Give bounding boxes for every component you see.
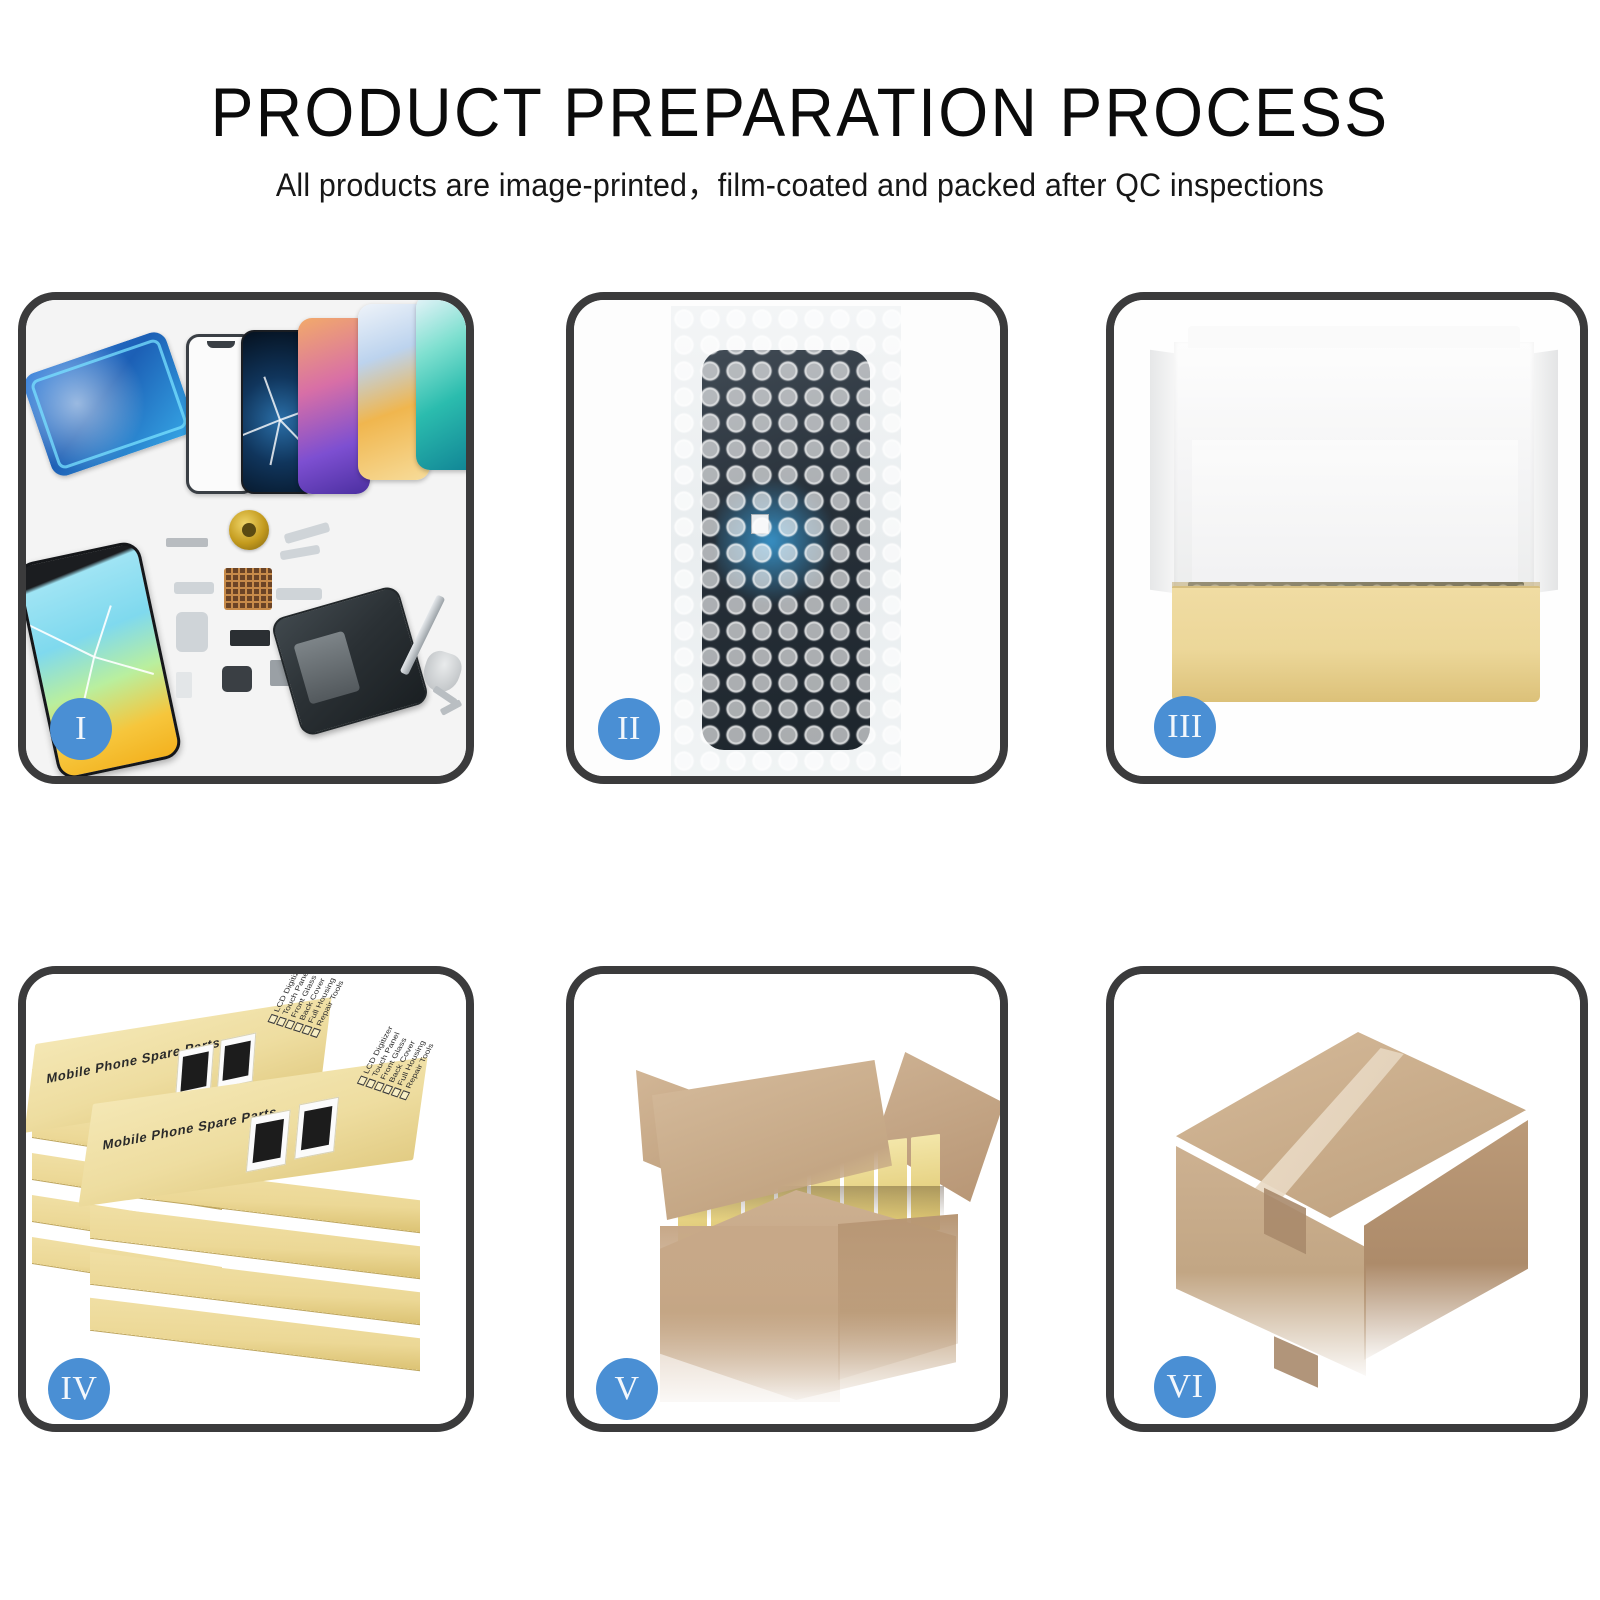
speaker-part	[166, 538, 208, 547]
flex-cable-part-d	[176, 612, 208, 652]
step-badge-2: II	[598, 698, 660, 760]
step-badge-5: V	[596, 1358, 658, 1420]
mailer-tray	[1172, 586, 1540, 702]
page-subtitle: All products are image-printed，film-coat…	[40, 148, 1560, 203]
retail-box-thumb-upper-b	[217, 1032, 256, 1089]
sim-tray-part	[176, 672, 192, 698]
step-numeral-4: IV	[61, 1372, 98, 1406]
step-badge-6: VI	[1154, 1356, 1216, 1418]
flex-cable-part-b	[280, 545, 321, 561]
step-numeral-6: VI	[1167, 1370, 1204, 1404]
step-numeral-3: III	[1167, 710, 1202, 744]
retail-box-checklist-lower: LCD Digitizer Touch Panel Front Glass Ba…	[356, 1025, 437, 1100]
header: PRODUCT PREPARATION PROCESS All products…	[0, 0, 1600, 204]
steps-grid: I II	[0, 292, 1600, 1432]
retail-box-thumb-lower-b	[294, 1097, 339, 1160]
step-numeral-5: V	[614, 1372, 639, 1406]
carton-front-face	[660, 1226, 840, 1402]
wireless-coil-part	[229, 510, 269, 550]
step-panel-2[interactable]: II	[566, 292, 1008, 784]
adhesive-frame-part	[21, 329, 198, 480]
step-badge-4: IV	[48, 1358, 110, 1420]
retail-box-checklist-upper: LCD Digitizer Touch Panel Front Glass Ba…	[267, 966, 347, 1038]
step-numeral-2: II	[617, 712, 641, 746]
step-numeral-1: I	[75, 712, 87, 746]
bubble-rings-layer	[671, 306, 901, 784]
phone-teal-display	[416, 294, 474, 470]
step-panel-6[interactable]: VI	[1106, 966, 1588, 1432]
step-panel-1[interactable]: I	[18, 292, 474, 784]
infographic-page: PRODUCT PREPARATION PROCESS All products…	[0, 0, 1600, 1600]
stacked-retail-boxes-image: Mobile Phone Spare Parts LCD Digitizer T…	[26, 974, 466, 1424]
flex-cable-part-c	[174, 582, 214, 594]
step-panel-5[interactable]: V	[566, 966, 1008, 1432]
open-shipping-carton-image	[574, 974, 1000, 1424]
flex-cable-part-e	[276, 588, 322, 600]
camera-module-part	[222, 666, 252, 692]
step-panel-4[interactable]: Mobile Phone Spare Parts LCD Digitizer T…	[18, 966, 474, 1432]
step-panel-3[interactable]: III	[1106, 292, 1588, 784]
mailer-foam-liner	[1192, 440, 1518, 592]
bubble-wrap-sleeve	[671, 306, 901, 784]
page-title: PRODUCT PREPARATION PROCESS	[56, 0, 1544, 148]
step-badge-1: I	[50, 698, 112, 760]
ic-chip-part	[224, 568, 272, 610]
step-badge-3: III	[1154, 696, 1216, 758]
flex-cable-part-a	[284, 522, 331, 544]
battery-connector-part	[230, 630, 270, 646]
retail-box-thumb-lower-a	[246, 1110, 291, 1173]
